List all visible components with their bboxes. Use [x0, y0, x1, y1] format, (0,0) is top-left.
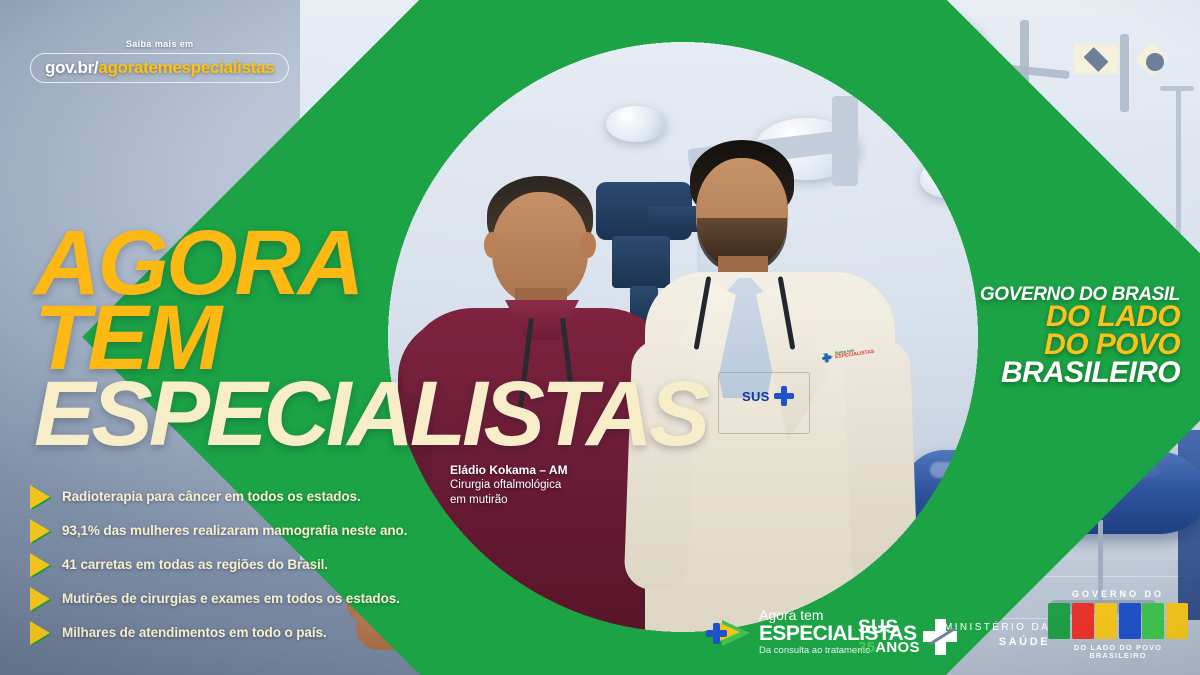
- gov-brand-line-1: GOVERNO DO: [1048, 590, 1188, 599]
- slogan-line-3: DO POVO: [980, 331, 1180, 359]
- arrow-bullet-icon: [30, 519, 50, 543]
- ministry-logo: MINISTÉRIO DA SAÚDE: [944, 620, 1050, 649]
- ministry-line-2: SAÚDE: [944, 635, 1050, 649]
- sus-name: SUS: [858, 618, 920, 637]
- sus-logo: SUS 35ANOS: [858, 618, 957, 655]
- gov-brand-letter-block: [1142, 603, 1164, 639]
- slogan-line-2: DO LADO: [980, 303, 1180, 331]
- arrow-bullet-icon: [30, 485, 50, 509]
- patient-caption: Eládio Kokama – AM Cirurgia oftalmológic…: [450, 462, 568, 508]
- page-title: AGORA TEM ESPECIALISTAS: [34, 226, 706, 452]
- diamond-circle-icon: [1132, 44, 1178, 74]
- gov-brand-letter-block: [1119, 603, 1141, 639]
- slogan-line-4: BRASILEIRO: [980, 359, 1180, 387]
- top-right-icons: [1074, 44, 1178, 74]
- ministry-line-1: MINISTÉRIO DA: [944, 620, 1050, 635]
- gov-brand-letter-block: [1072, 603, 1094, 639]
- program-logo-icon: [706, 616, 752, 650]
- sus-anniversary: 35ANOS: [858, 640, 920, 655]
- sus-logo-text: SUS 35ANOS: [858, 618, 920, 655]
- government-slogan: GOVERNO DO BRASIL DO LADO DO POVO BRASIL…: [980, 286, 1180, 386]
- url-slug: agoratemespecialistas: [98, 58, 274, 77]
- gov-brand-letter-block: [1095, 603, 1117, 639]
- list-item-label: 41 carretas em todas as regiões do Brasi…: [62, 558, 328, 572]
- gov-brand-letter-block: [1048, 603, 1070, 639]
- patient-name: Eládio Kokama – AM: [450, 462, 568, 478]
- list-item-label: Radioterapia para câncer em todos os est…: [62, 490, 361, 504]
- gov-brand-wordmark: [1048, 603, 1188, 639]
- url-prefix: gov.br/: [45, 58, 98, 77]
- footer-logo-bar: Agora tem ESPECIALISTAS Da consulta ao t…: [0, 583, 1200, 675]
- government-brand-logo: GOVERNO DO DO LADO DO POVO BRASILEIRO: [1048, 590, 1188, 659]
- patient-procedure-detail: em mutirão: [450, 493, 568, 508]
- sus-years-label: ANOS: [875, 639, 920, 656]
- flag-icon: [1074, 44, 1118, 74]
- patient-procedure: Cirurgia oftalmológica: [450, 478, 568, 493]
- list-item: Radioterapia para câncer em todos os est…: [30, 482, 407, 512]
- list-item: 93,1% das mulheres realizaram mamografia…: [30, 516, 407, 546]
- gov-brand-letter-block: [1166, 603, 1188, 639]
- url-pill[interactable]: gov.br/agoratemespecialistas: [30, 53, 289, 83]
- sus-years-number: 35: [858, 639, 875, 656]
- arrow-bullet-icon: [30, 553, 50, 577]
- list-item: 41 carretas em todas as regiões do Brasi…: [30, 550, 407, 580]
- learn-more-url[interactable]: Saiba mais em gov.br/agoratemespecialist…: [30, 40, 289, 83]
- list-item-label: 93,1% das mulheres realizaram mamografia…: [62, 524, 407, 538]
- gov-brand-line-2: DO LADO DO POVO BRASILEIRO: [1048, 644, 1188, 659]
- campaign-poster: SUS Agora tem ESPECIALISTAS Saiba mais e…: [0, 0, 1200, 675]
- learn-more-label: Saiba mais em: [30, 40, 289, 49]
- headline-line-3: ESPECIALISTAS: [34, 377, 706, 452]
